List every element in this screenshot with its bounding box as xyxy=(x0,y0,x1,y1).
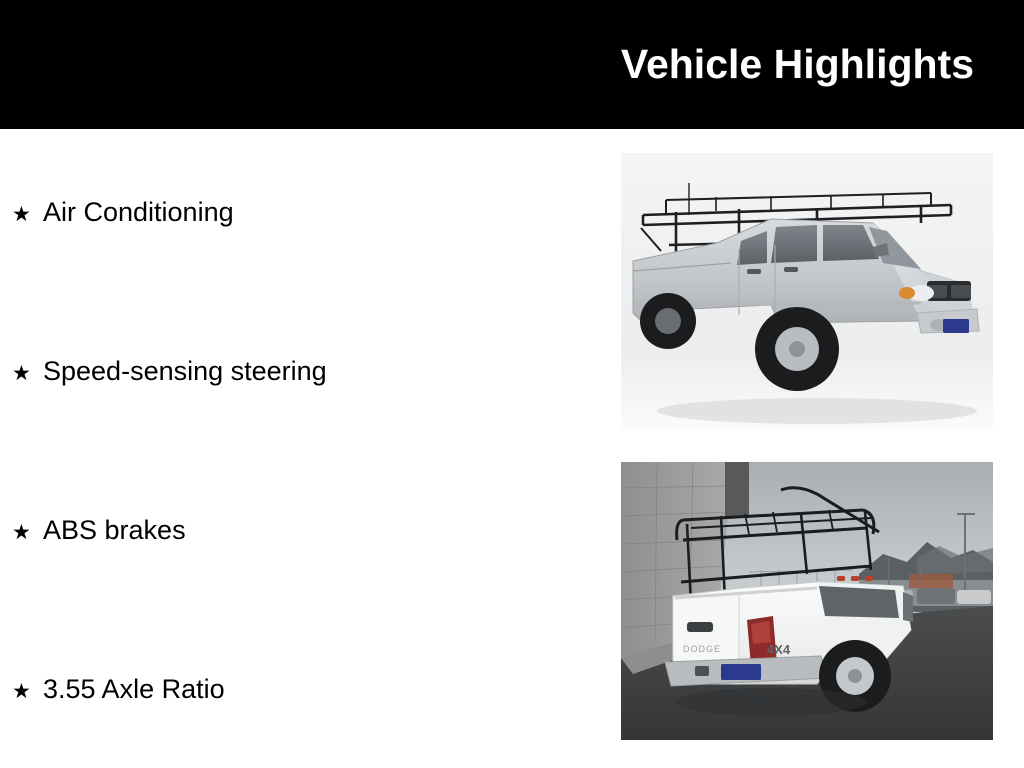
list-item: ★ ABS brakes xyxy=(12,513,186,547)
vehicle-photo-rear: DODGE 4X4 xyxy=(621,462,993,740)
star-bullet-icon: ★ xyxy=(12,516,43,550)
highlight-label: 3.55 Axle Ratio xyxy=(43,672,225,706)
four-by-four-badge: 4X4 xyxy=(767,642,791,657)
highlight-label: ABS brakes xyxy=(43,513,186,547)
license-plate xyxy=(943,319,969,333)
star-bullet-icon: ★ xyxy=(12,675,43,709)
license-plate xyxy=(721,664,761,680)
slide-canvas: Vehicle Highlights ★ Air Conditioning ★ … xyxy=(0,0,1024,768)
highlight-label: Speed-sensing steering xyxy=(43,354,327,388)
slide-header-band: Vehicle Highlights xyxy=(0,0,1024,129)
wall-dark-band xyxy=(725,462,749,518)
tailgate-handle xyxy=(687,622,713,632)
cab-roof-lamps xyxy=(837,576,873,581)
dodge-wordmark: DODGE xyxy=(683,644,721,654)
rear-view-illustration: DODGE 4X4 xyxy=(621,462,993,740)
star-bullet-icon: ★ xyxy=(12,198,43,232)
front-view-illustration xyxy=(621,153,993,429)
highlight-label: Air Conditioning xyxy=(43,195,234,229)
list-item: ★ 3.55 Axle Ratio xyxy=(12,672,225,706)
star-bullet-icon: ★ xyxy=(12,357,43,391)
page-title: Vehicle Highlights xyxy=(621,38,974,90)
rear-glass xyxy=(819,586,899,618)
vehicle-highlights-list: ★ Air Conditioning ★ Speed-sensing steer… xyxy=(0,129,600,768)
vehicle-photo-front xyxy=(621,153,993,429)
list-item: ★ Speed-sensing steering xyxy=(12,354,327,388)
list-item: ★ Air Conditioning xyxy=(12,195,234,229)
